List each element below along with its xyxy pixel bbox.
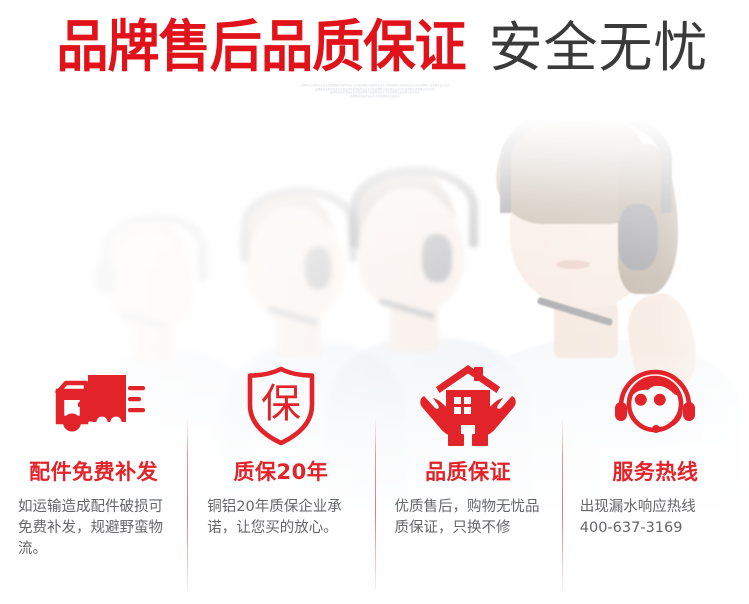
feature-card-warranty[interactable]: 保 质保20年 铜铝20年质保企业承诺，让您买的放心。 bbox=[187, 360, 374, 604]
headline: 品牌售后品质保证安全无忧 bbox=[0, 20, 749, 76]
card-title: 质保20年 bbox=[201, 456, 360, 486]
card-description: 铜铝20年质保企业承诺，让您买的放心。 bbox=[201, 497, 360, 539]
hotline-number[interactable]: 400-637-3169 bbox=[580, 518, 735, 539]
shield-glyph: 保 bbox=[261, 381, 301, 427]
card-title: 品质保证 bbox=[389, 456, 548, 486]
card-description: 出现漏水响应热线 400-637-3169 bbox=[576, 497, 735, 539]
delivery-truck-icon bbox=[14, 360, 173, 452]
card-description: 如运输造成配件破损可免费补发，规避野蛮物流。 bbox=[14, 497, 173, 560]
warranty-shield-icon: 保 bbox=[201, 360, 360, 452]
microtext-line-4: 品牌售后品质保证安全无忧品牌售后品质保证 bbox=[303, 95, 447, 99]
promo-banner-page: 品牌售后品质保证安全无忧 品牌售后品质保证安全无忧品牌售后品质保证安全无忧品牌售… bbox=[0, 0, 749, 604]
feature-card-service-hotline[interactable]: 服务热线 出现漏水响应热线 400-637-3169 bbox=[562, 360, 749, 604]
feature-card-parts-replacement[interactable]: 配件免费补发 如运输造成配件破损可免费补发，规避野蛮物流。 bbox=[0, 360, 187, 604]
card-description: 优质售后，购物无忧品质保证，只换不修 bbox=[389, 497, 548, 539]
card-title: 服务热线 bbox=[576, 456, 735, 486]
card-title: 配件免费补发 bbox=[14, 456, 173, 486]
hands-holding-house-icon bbox=[389, 360, 548, 452]
headline-secondary: 安全无忧 bbox=[489, 21, 709, 75]
headline-primary: 品牌售后品质保证 bbox=[56, 20, 465, 76]
headset-operator-icon bbox=[576, 360, 735, 452]
microtext-line-1: 品牌售后品质保证安全无忧品牌售后品质保证安全无忧品牌售后品质保证安全无忧品牌售后… bbox=[300, 84, 449, 87]
decorative-microtext: 品牌售后品质保证安全无忧品牌售后品质保证安全无忧品牌售后品质保证安全无忧品牌售后… bbox=[150, 84, 600, 98]
hotline-label: 出现漏水响应热线 bbox=[580, 497, 735, 518]
feature-card-quality-guarantee[interactable]: 品质保证 优质售后，购物无忧品质保证，只换不修 bbox=[375, 360, 562, 604]
feature-card-row: 配件免费补发 如运输造成配件破损可免费补发，规避野蛮物流。 保 质保20年 铜铝… bbox=[0, 360, 749, 604]
